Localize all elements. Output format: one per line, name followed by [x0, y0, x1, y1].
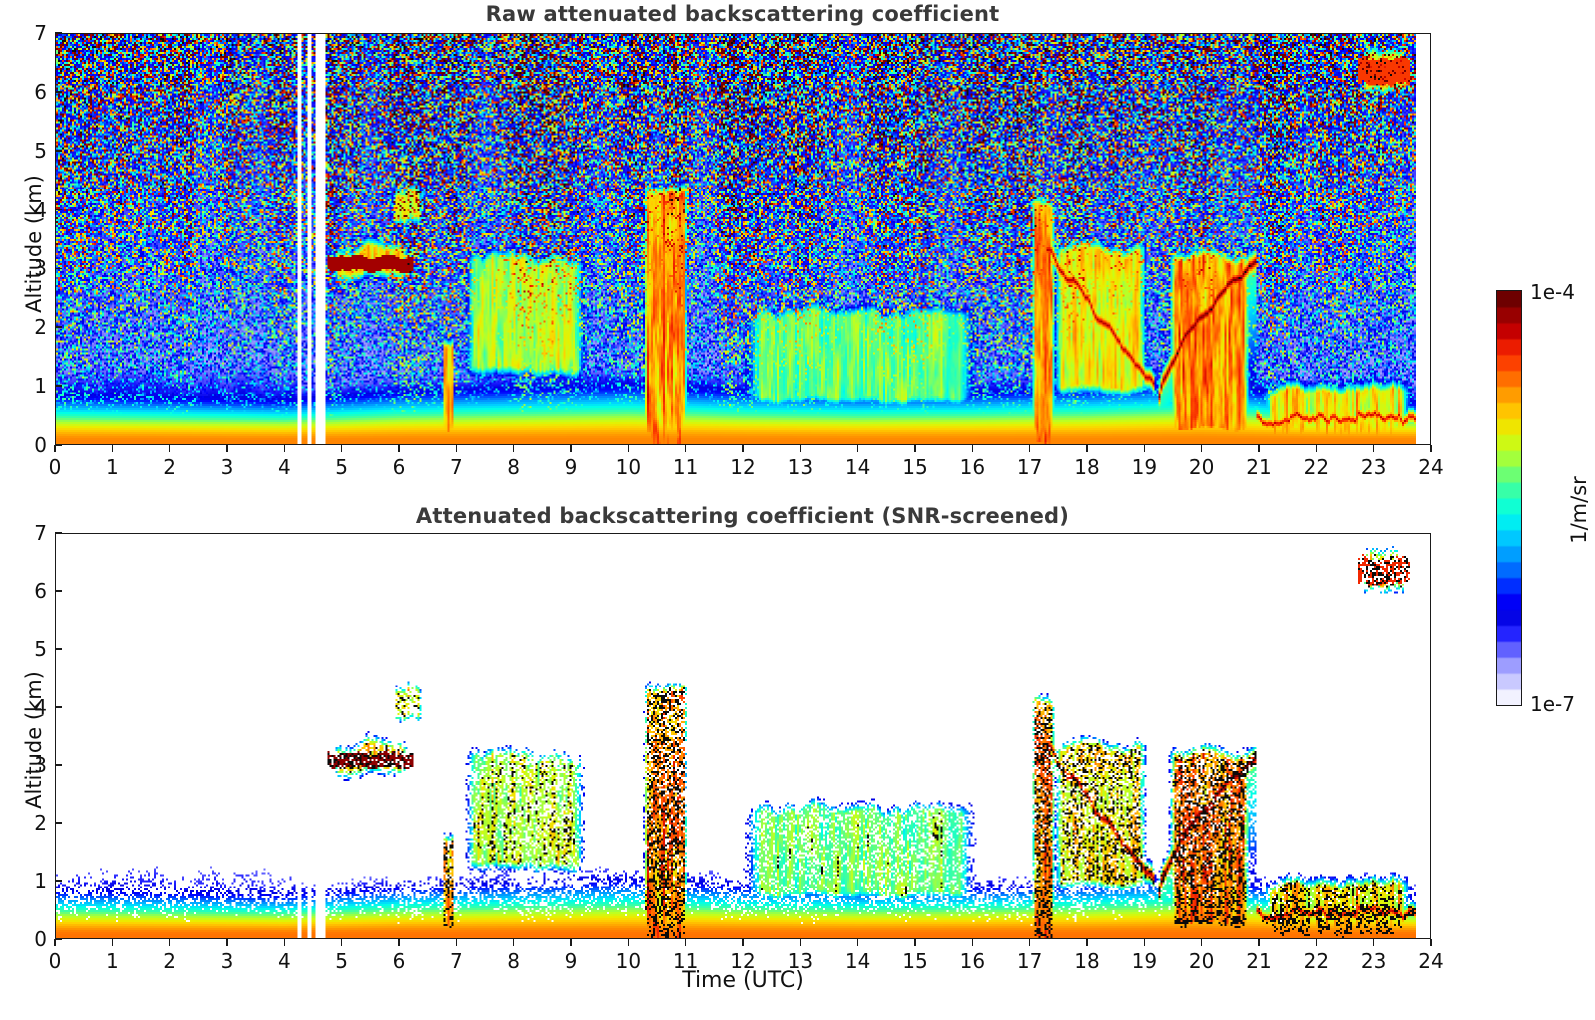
y-tick-label: 1 — [9, 374, 47, 398]
x-tick-mark — [1201, 939, 1203, 946]
x-tick-label: 9 — [548, 455, 594, 479]
y-tick-label: 0 — [9, 927, 47, 951]
x-tick-mark — [570, 939, 572, 946]
x-tick-mark — [226, 939, 228, 946]
colorbar-max-label: 1e-4 — [1530, 280, 1575, 304]
x-tick-label: 17 — [1007, 455, 1053, 479]
y-tick-mark — [55, 209, 62, 211]
plot-area-screened — [55, 533, 1431, 939]
x-tick-mark — [284, 939, 286, 946]
x-tick-label: 12 — [720, 455, 766, 479]
x-tick-label: 2 — [147, 455, 193, 479]
y-tick-label: 0 — [9, 433, 47, 457]
x-tick-mark — [398, 939, 400, 946]
x-tick-label: 5 — [319, 455, 365, 479]
x-tick-mark — [972, 939, 974, 946]
x-tick-label: 1 — [89, 455, 135, 479]
x-tick-mark — [1316, 445, 1318, 452]
y-tick-label: 7 — [9, 21, 47, 45]
x-tick-mark — [628, 445, 630, 452]
y-tick-mark — [55, 822, 62, 824]
x-tick-mark — [54, 939, 56, 946]
y-axis-label-screened: Altitude (km) — [22, 640, 46, 840]
x-tick-label: 24 — [1408, 455, 1454, 479]
plot-area-raw — [55, 33, 1431, 445]
x-tick-mark — [685, 939, 687, 946]
x-tick-mark — [1373, 445, 1375, 452]
x-tick-mark — [1430, 939, 1432, 946]
x-tick-label: 21 — [1236, 455, 1282, 479]
x-tick-mark — [112, 445, 114, 452]
y-tick-mark — [55, 764, 62, 766]
x-tick-mark — [456, 445, 458, 452]
y-tick-mark — [55, 706, 62, 708]
y-tick-mark — [55, 385, 62, 387]
x-tick-mark — [800, 445, 802, 452]
colorbar: 1e-4 1e-7 — [1496, 290, 1522, 706]
y-tick-mark — [55, 444, 62, 446]
x-tick-label: 8 — [491, 455, 537, 479]
x-tick-label: 11 — [663, 455, 709, 479]
x-tick-mark — [1029, 445, 1031, 452]
y-tick-mark — [55, 532, 62, 534]
x-tick-label: 16 — [949, 455, 995, 479]
x-tick-mark — [972, 445, 974, 452]
x-tick-mark — [456, 939, 458, 946]
figure-root: Raw attenuated backscattering coefficien… — [0, 0, 1595, 1020]
x-tick-mark — [1258, 445, 1260, 452]
panel-title-screened: Attenuated backscattering coefficient (S… — [55, 504, 1430, 528]
x-tick-label: 6 — [376, 455, 422, 479]
x-tick-label: 10 — [605, 455, 651, 479]
heatmap-screened — [56, 534, 1430, 938]
colorbar-unit-label: 1/m/sr — [1567, 476, 1591, 544]
x-tick-label: 13 — [777, 455, 823, 479]
x-tick-mark — [857, 939, 859, 946]
x-axis-label: Time (UTC) — [55, 968, 1431, 993]
x-tick-mark — [341, 939, 343, 946]
x-tick-mark — [341, 445, 343, 452]
x-tick-label: 22 — [1293, 455, 1339, 479]
x-tick-mark — [284, 445, 286, 452]
y-tick-label: 6 — [9, 80, 47, 104]
x-tick-label: 3 — [204, 455, 250, 479]
y-tick-label: 7 — [9, 521, 47, 545]
x-tick-mark — [513, 445, 515, 452]
y-axis-label-raw: Altitude (km) — [22, 144, 46, 344]
x-tick-mark — [800, 939, 802, 946]
x-tick-label: 0 — [32, 455, 78, 479]
y-tick-mark — [55, 938, 62, 940]
x-tick-mark — [1373, 939, 1375, 946]
x-tick-mark — [112, 939, 114, 946]
x-tick-mark — [1029, 939, 1031, 946]
y-tick-mark — [55, 326, 62, 328]
x-tick-mark — [1430, 445, 1432, 452]
x-tick-mark — [1144, 445, 1146, 452]
x-tick-label: 7 — [433, 455, 479, 479]
x-tick-mark — [1258, 939, 1260, 946]
x-tick-label: 20 — [1179, 455, 1225, 479]
x-tick-mark — [742, 445, 744, 452]
x-tick-mark — [169, 445, 171, 452]
x-tick-mark — [226, 445, 228, 452]
x-tick-mark — [54, 445, 56, 452]
x-tick-label: 4 — [261, 455, 307, 479]
x-tick-mark — [857, 445, 859, 452]
x-tick-mark — [1086, 939, 1088, 946]
x-tick-mark — [914, 939, 916, 946]
y-tick-mark — [55, 880, 62, 882]
x-tick-label: 18 — [1064, 455, 1110, 479]
y-tick-label: 1 — [9, 869, 47, 893]
x-tick-mark — [742, 939, 744, 946]
heatmap-raw — [56, 34, 1430, 444]
y-tick-mark — [55, 32, 62, 34]
x-tick-label: 19 — [1121, 455, 1167, 479]
x-tick-label: 14 — [835, 455, 881, 479]
y-tick-mark — [55, 648, 62, 650]
panel-title-raw: Raw attenuated backscattering coefficien… — [55, 2, 1430, 26]
x-tick-label: 23 — [1351, 455, 1397, 479]
x-tick-mark — [570, 445, 572, 452]
y-tick-label: 6 — [9, 579, 47, 603]
x-tick-mark — [398, 445, 400, 452]
x-tick-mark — [513, 939, 515, 946]
x-tick-mark — [169, 939, 171, 946]
x-tick-label: 15 — [892, 455, 938, 479]
y-tick-mark — [55, 91, 62, 93]
x-tick-mark — [1086, 445, 1088, 452]
colorbar-min-label: 1e-7 — [1530, 692, 1575, 716]
colorbar-gradient — [1496, 290, 1522, 706]
x-tick-mark — [1316, 939, 1318, 946]
x-tick-mark — [628, 939, 630, 946]
x-tick-mark — [1201, 445, 1203, 452]
y-tick-mark — [55, 150, 62, 152]
y-tick-mark — [55, 268, 62, 270]
x-tick-mark — [1144, 939, 1146, 946]
y-tick-mark — [55, 590, 62, 592]
x-tick-mark — [685, 445, 687, 452]
x-tick-mark — [914, 445, 916, 452]
